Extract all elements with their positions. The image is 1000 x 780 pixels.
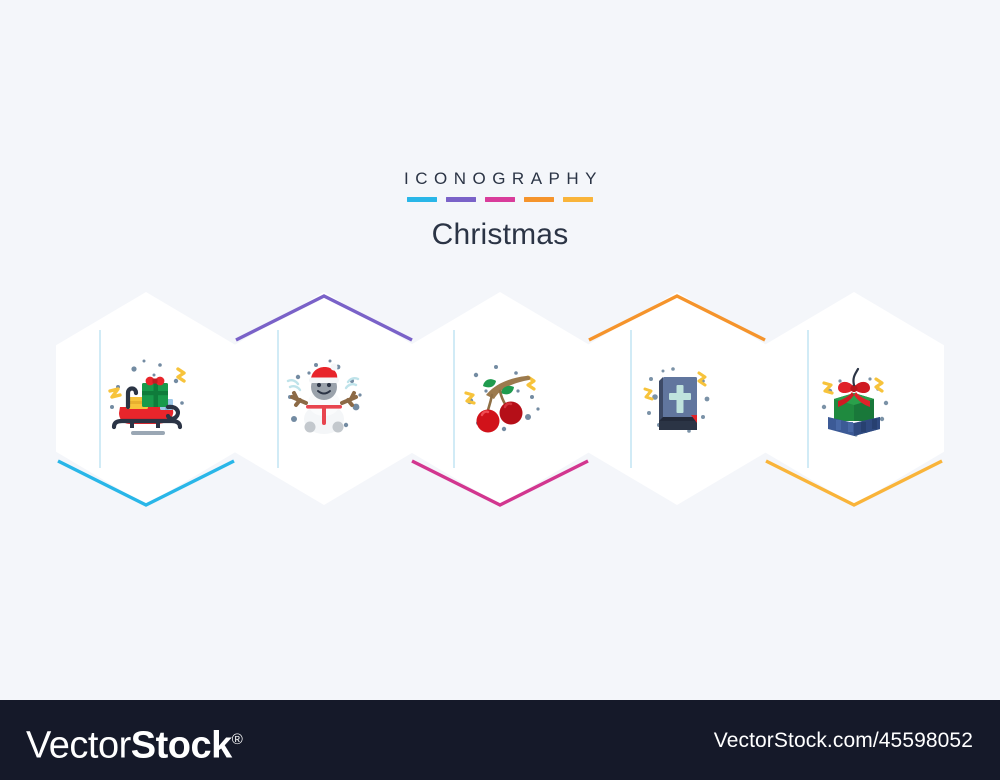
registered-trademark-icon: ®	[232, 731, 243, 748]
snowman-icon	[234, 292, 414, 505]
icon-cell-bible[interactable]	[587, 292, 767, 505]
accent-bar-magenta	[485, 197, 515, 202]
icon-cell-giftbox[interactable]	[764, 292, 944, 505]
page-title: Christmas	[0, 218, 1000, 252]
page-kicker: ICONOGRAPHY	[0, 168, 1000, 190]
footer-watermark-bar: VectorStock® VectorStock.com/45598052	[0, 700, 1000, 780]
accent-bar-group	[0, 197, 1000, 202]
sleigh-icon	[56, 292, 236, 505]
icon-cell-cherries[interactable]	[410, 292, 590, 505]
icon-cell-sleigh[interactable]	[56, 292, 236, 505]
accent-bar-purple	[446, 197, 476, 202]
accent-bar-yellow	[563, 197, 593, 202]
logo-text-bold: Stock	[131, 725, 232, 767]
footer-url: VectorStock.com/45598052	[714, 728, 973, 754]
canvas: ICONOGRAPHY Christmas	[0, 0, 1000, 700]
giftbox-icon	[764, 292, 944, 505]
vectorstock-logo: VectorStock®	[26, 718, 242, 768]
accent-bar-orange	[524, 197, 554, 202]
accent-bar-cyan	[407, 197, 437, 202]
icon-cell-snowman[interactable]	[234, 292, 414, 505]
cherries-icon	[410, 292, 590, 505]
icon-grid	[0, 292, 1000, 512]
bible-icon	[587, 292, 767, 505]
header: ICONOGRAPHY Christmas	[0, 168, 1000, 252]
logo-text-thin: Vector	[26, 725, 131, 767]
